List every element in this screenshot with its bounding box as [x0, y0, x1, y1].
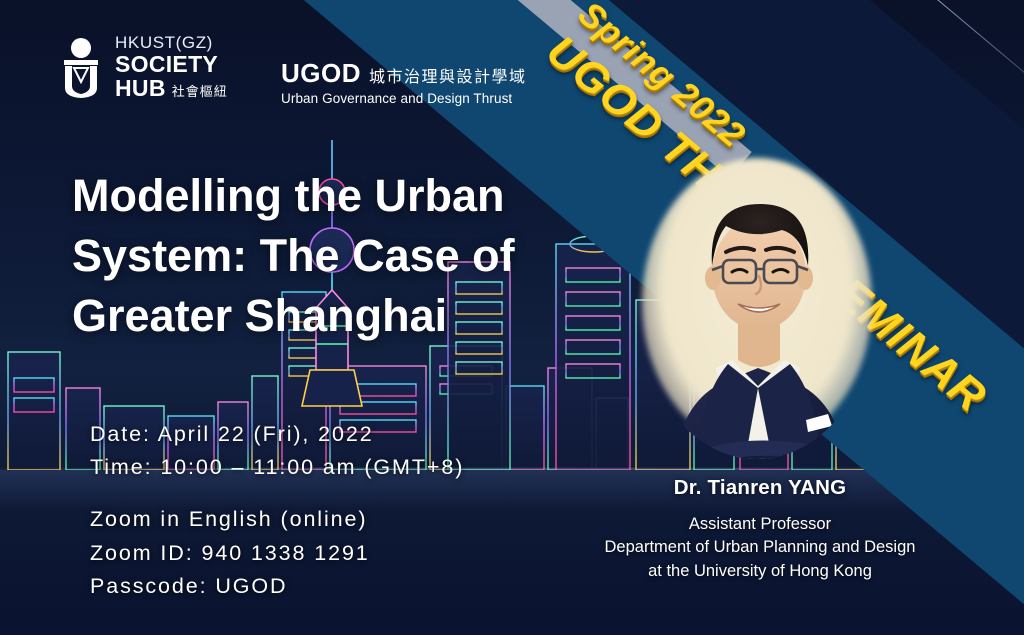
hkust-society-hub-logo: HKUST(GZ) SOCIETY HUB 社會樞紐 — [58, 34, 228, 100]
zoom-language-mode: Zoom in English (online) — [90, 503, 370, 537]
speaker-title: Assistant Professor — [560, 513, 960, 536]
title-line-3: Greater Shanghai — [72, 286, 612, 346]
title-line-1: Modelling the Urban — [72, 166, 612, 226]
ugod-logo: UGOD 城市治理與設計學域 Urban Governance and Desi… — [281, 58, 527, 106]
speaker-department: Department of Urban Planning and Design — [560, 536, 960, 559]
zoom-passcode: Passcode: UGOD — [90, 570, 370, 604]
speaker-info: Dr. Tianren YANG Assistant Professor Dep… — [560, 476, 960, 583]
seminar-title: Modelling the Urban System: The Case of … — [72, 166, 612, 346]
speaker-photo — [620, 158, 900, 488]
society-hub-mark-icon — [58, 36, 104, 98]
speaker-credentials: Assistant Professor Department of Urban … — [560, 513, 960, 583]
speaker-affiliation: at the University of Hong Kong — [560, 560, 960, 583]
hkust-hub-chinese: 社會樞紐 — [172, 85, 228, 100]
event-details: Date: April 22 (Fri), 2022 Time: 10:00 –… — [90, 418, 464, 483]
hkust-line-2: SOCIETY — [115, 53, 228, 76]
zoom-access-details: Zoom in English (online) Zoom ID: 940 13… — [90, 503, 370, 604]
hkust-logo-text: HKUST(GZ) SOCIETY HUB 社會樞紐 — [115, 34, 228, 100]
zoom-meeting-id: Zoom ID: 940 1338 1291 — [90, 537, 370, 571]
title-line-2: System: The Case of — [72, 226, 612, 286]
hkust-line-3: HUB 社會樞紐 — [115, 77, 228, 100]
ugod-logo-row: UGOD 城市治理與設計學域 — [281, 58, 527, 89]
ugod-chinese-name: 城市治理與設計學域 — [369, 63, 527, 87]
ugod-english-name: Urban Governance and Design Thrust — [281, 91, 527, 106]
ugod-acronym: UGOD — [281, 58, 361, 89]
hkust-hub-label: HUB — [115, 77, 166, 100]
speaker-portrait-illustration — [620, 168, 900, 488]
event-time: Time: 10:00 – 11:00 am (GMT+8) — [90, 451, 464, 484]
hkust-line-1: HKUST(GZ) — [115, 34, 228, 51]
seminar-poster: Spring 2022 UGOD THRUST SEMINAR HKUST(GZ… — [0, 0, 1024, 635]
speaker-name: Dr. Tianren YANG — [560, 476, 960, 500]
event-date: Date: April 22 (Fri), 2022 — [90, 418, 464, 451]
